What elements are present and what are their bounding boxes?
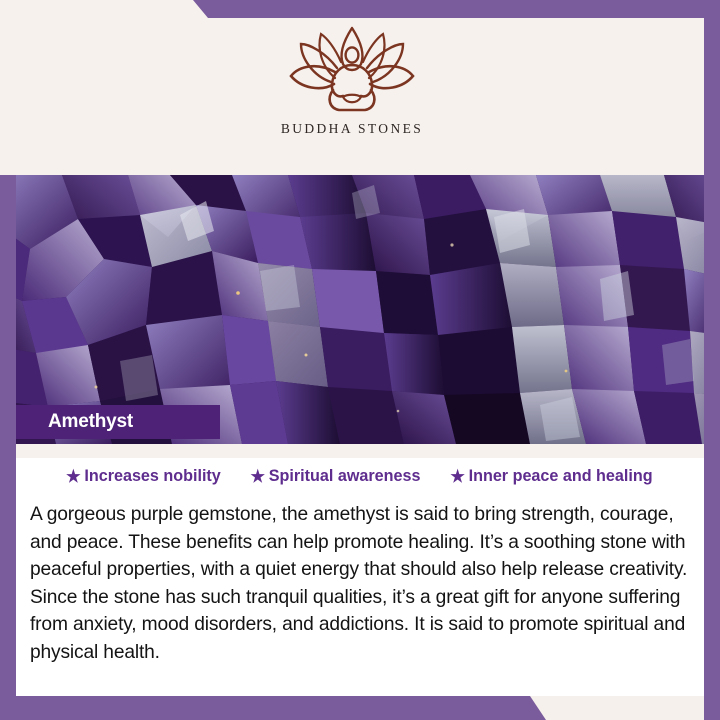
benefit-label: Spiritual awareness — [268, 466, 420, 486]
brand-name: BUDDHA STONES — [281, 121, 423, 137]
benefit-item-1: ★ Spiritual awareness — [250, 466, 420, 486]
amethyst-photo — [0, 175, 720, 444]
stone-name-label: Amethyst — [48, 411, 133, 433]
star-icon: ★ — [66, 468, 80, 485]
benefit-label: Increases nobility — [84, 466, 220, 486]
description-paragraph: A gorgeous purple gemstone, the amethyst… — [30, 501, 690, 666]
frame-right-band — [704, 0, 720, 720]
lotus-meditation-icon — [277, 24, 427, 116]
amethyst-photo-graphic — [0, 175, 720, 444]
benefit-item-2: ★ Inner peace and healing — [451, 466, 653, 486]
frame-bottom-band — [0, 696, 720, 720]
benefit-item-0: ★ Increases nobility — [66, 466, 221, 486]
benefit-label: Inner peace and healing — [469, 466, 653, 486]
stone-caption-band: Amethyst — [16, 405, 220, 439]
card-top-strip — [16, 444, 704, 458]
benefits-row: ★ Increases nobility ★ Spiritual awarene… — [16, 466, 704, 486]
star-icon: ★ — [250, 468, 264, 485]
header-panel: BUDDHA STONES — [0, 0, 704, 177]
brand-logo-block: BUDDHA STONES — [277, 24, 427, 137]
star-icon: ★ — [451, 468, 465, 485]
content-card: ★ Increases nobility ★ Spiritual awarene… — [16, 444, 704, 696]
frame-left-band — [0, 175, 16, 720]
